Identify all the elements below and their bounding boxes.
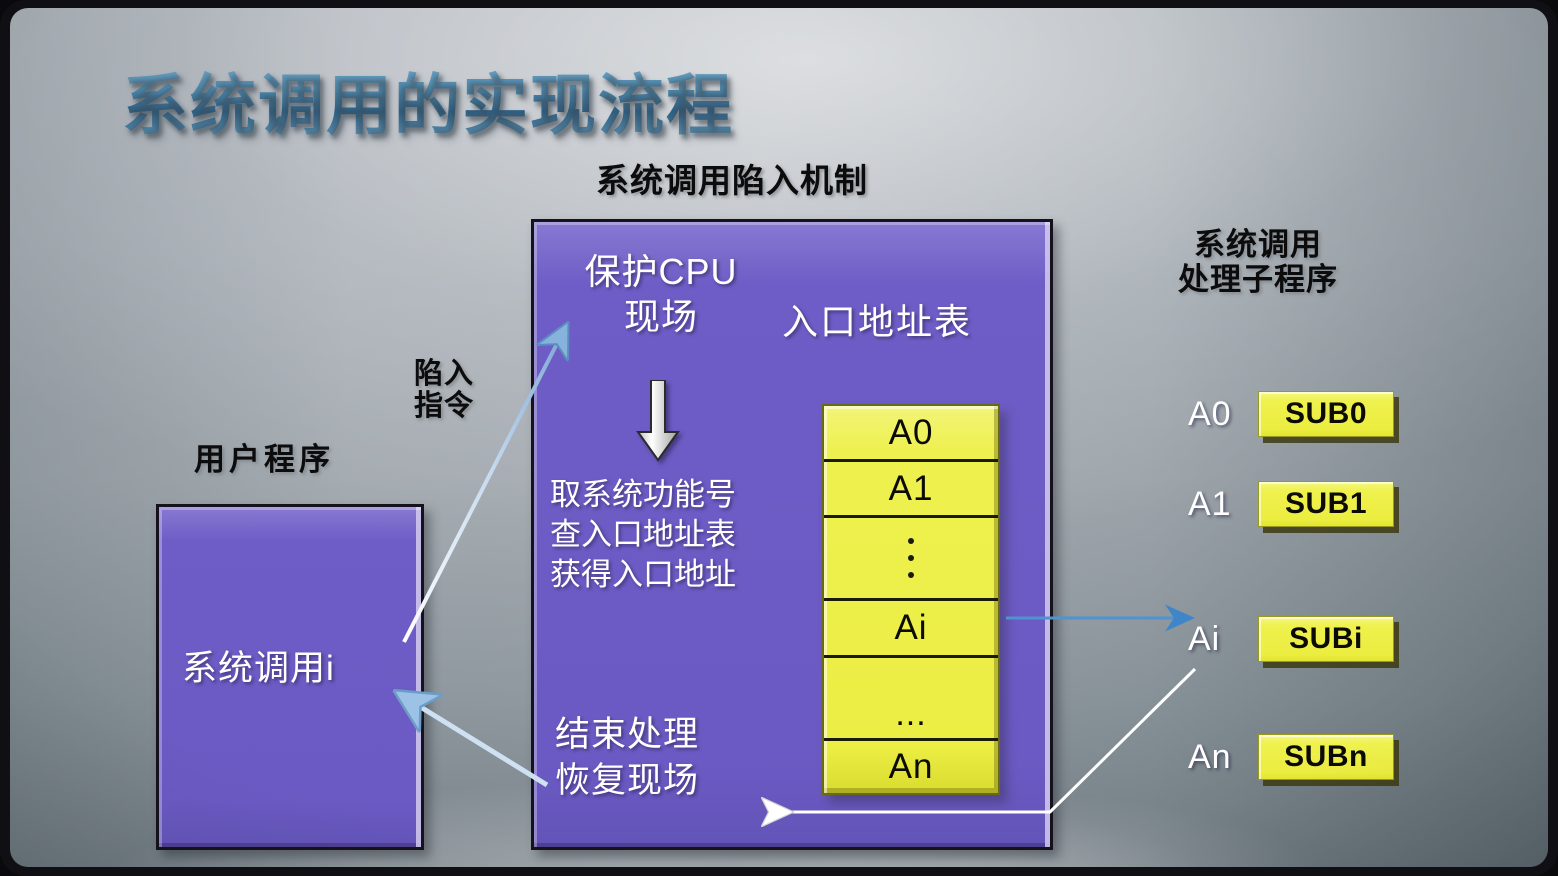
routine-button[interactable]: SUBi	[1258, 616, 1394, 662]
save-cpu-state-label: 保护CPU 现场	[566, 250, 756, 338]
trap-instruction-label: 陷入 指令	[414, 358, 474, 423]
dot-icon	[908, 555, 914, 561]
table-row-ellipsis: ...	[824, 658, 998, 741]
routine-button[interactable]: SUBn	[1258, 734, 1394, 780]
end-line-1: 结束处理	[555, 714, 699, 756]
user-program-call-label: 系统调用i	[182, 648, 335, 690]
entry-table-heading: 入口地址表	[782, 300, 972, 343]
routine-button[interactable]: SUB0	[1258, 391, 1394, 437]
table-row: Ai	[824, 601, 998, 657]
slide-surface: 系统调用的实现流程 系统调用陷入机制 用户程序 系统调用 处理子程序 陷入 指令…	[10, 8, 1548, 867]
slide-canvas: 系统调用的实现流程 系统调用陷入机制 用户程序 系统调用 处理子程序 陷入 指令…	[0, 0, 1558, 876]
save-cpu-line-1: 保护CPU	[566, 250, 756, 293]
routine-row[interactable]: A1 SUB1	[1188, 481, 1394, 527]
user-program-heading: 用户程序	[194, 443, 334, 478]
routine-address: A1	[1188, 485, 1248, 524]
lookup-step-3: 获得入口地址	[550, 556, 736, 593]
right-heading-line-1: 系统调用	[1178, 228, 1338, 263]
end-line-2: 恢复现场	[555, 760, 699, 802]
table-row-vertical-dots	[824, 518, 998, 601]
page-title: 系统调用的实现流程	[122, 52, 734, 148]
routine-address: A0	[1188, 395, 1248, 434]
dot-icon	[908, 538, 914, 544]
right-section-heading: 系统调用 处理子程序	[1178, 228, 1338, 297]
center-section-heading: 系统调用陷入机制	[596, 163, 868, 200]
routine-row[interactable]: Ai SUBi	[1188, 616, 1394, 662]
table-cell: A1	[889, 469, 934, 509]
slide-frame: 系统调用的实现流程 系统调用陷入机制 用户程序 系统调用 处理子程序 陷入 指令…	[0, 0, 1558, 876]
dot-icon	[908, 572, 914, 578]
routine-address: An	[1188, 738, 1248, 777]
table-row: An	[824, 741, 998, 793]
return-to-user-arrow	[406, 698, 547, 785]
table-row: A0	[824, 406, 998, 462]
lookup-steps-label: 取系统功能号 查入口地址表 获得入口地址	[550, 476, 736, 597]
table-cell: A0	[889, 413, 934, 453]
trap-label-line-2: 指令	[414, 390, 474, 422]
routine-row[interactable]: An SUBn	[1188, 734, 1394, 780]
right-heading-line-2: 处理子程序	[1178, 263, 1338, 298]
table-cell: ...	[895, 695, 926, 734]
restore-state-label: 结束处理 恢复现场	[555, 714, 699, 806]
trap-label-line-1: 陷入	[414, 358, 474, 390]
lookup-step-2: 查入口地址表	[550, 516, 736, 553]
lookup-step-1: 取系统功能号	[550, 476, 736, 513]
routine-button[interactable]: SUB1	[1258, 481, 1394, 527]
routine-address: Ai	[1188, 620, 1248, 659]
table-row: A1	[824, 462, 998, 518]
table-cell: An	[889, 747, 934, 787]
arrow-down-icon	[632, 380, 684, 462]
routine-row[interactable]: A0 SUB0	[1188, 391, 1394, 437]
entry-address-table[interactable]: A0 A1 Ai ... An	[822, 404, 1000, 795]
table-cell: Ai	[894, 608, 927, 648]
save-cpu-line-2: 现场	[566, 295, 756, 338]
